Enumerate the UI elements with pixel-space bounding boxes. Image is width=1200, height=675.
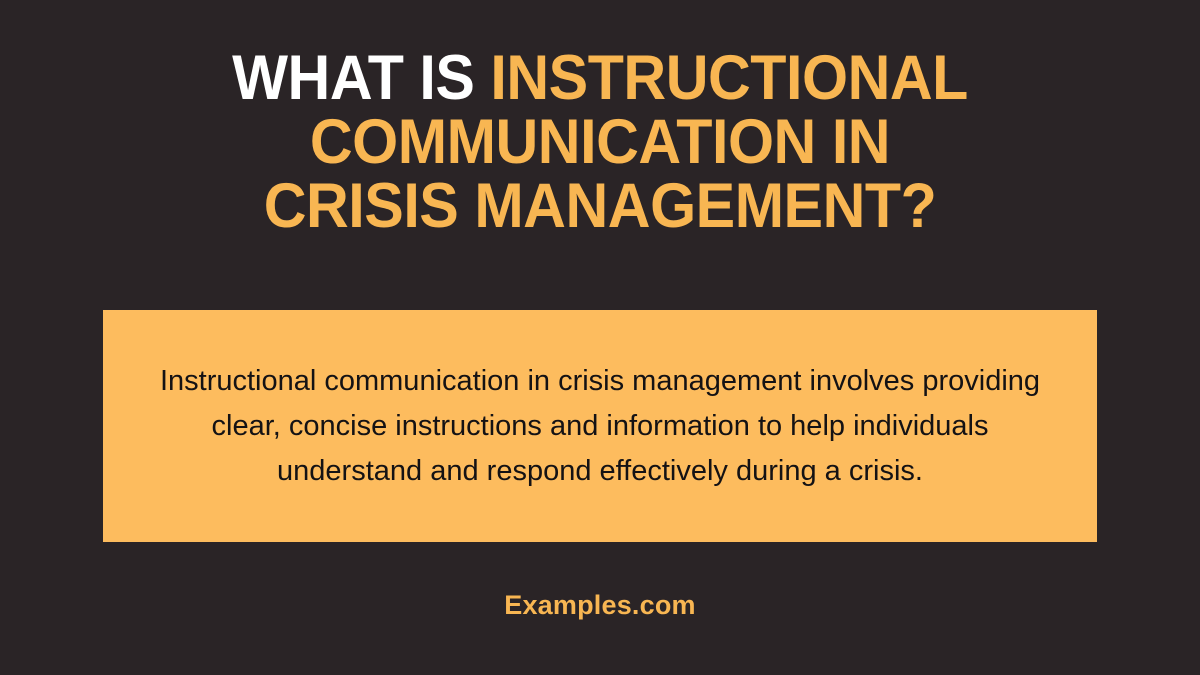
title-line-3: CRISIS MANAGEMENT? bbox=[102, 174, 1098, 238]
brand-label: Examples.com bbox=[504, 590, 696, 620]
definition-panel: Instructional communication in crisis ma… bbox=[103, 310, 1097, 542]
page-title: WHAT IS INSTRUCTIONAL COMMUNICATION IN C… bbox=[0, 46, 1200, 238]
title-segment-what-is: WHAT IS bbox=[232, 43, 490, 113]
slide-canvas: WHAT IS INSTRUCTIONAL COMMUNICATION IN C… bbox=[0, 0, 1200, 675]
title-segment-instructional: INSTRUCTIONAL bbox=[490, 43, 967, 113]
title-line-1: WHAT IS INSTRUCTIONAL bbox=[102, 46, 1098, 110]
footer: Examples.com bbox=[0, 589, 1200, 621]
title-line-2: COMMUNICATION IN bbox=[102, 110, 1098, 174]
definition-text: Instructional communication in crisis ma… bbox=[150, 359, 1050, 494]
